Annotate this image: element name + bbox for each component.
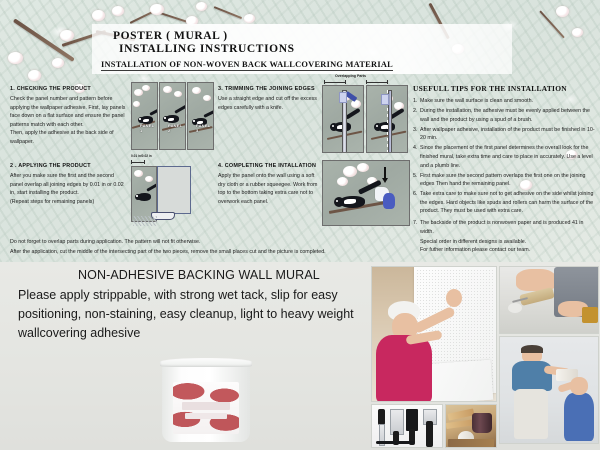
- brush-strokes: [133, 216, 157, 226]
- step-1: 1. CHECKING THE PRODUCT Check the panel …: [10, 86, 128, 146]
- photo-roller-applying-paste: [499, 266, 599, 334]
- blossom-decoration: [28, 70, 41, 81]
- tip-item: 6. Take extra care to make sure not to g…: [413, 190, 595, 216]
- page-title-line2: INSTALLING INSTRUCTIONS: [119, 43, 295, 55]
- step-4-heading: 4. COMPLETING THE INTALLATION: [218, 163, 318, 169]
- page-subtitle: INSTALLATION OF NON-WOVEN BACK WALLCOVER…: [101, 60, 393, 71]
- tip-text: First make sure the second pattern overl…: [420, 172, 595, 189]
- mural-trim-left: [322, 85, 364, 153]
- footnotes: Do not forget to overlap parts during ap…: [10, 238, 590, 257]
- tip-item: 3. After wallpaper adhesive, installatio…: [413, 126, 595, 143]
- tool-knife-icon: [376, 409, 386, 445]
- bucket-label: [173, 382, 239, 434]
- mural-panel-3: PANEL 3: [187, 82, 214, 150]
- tool-putty-knife-icon: [422, 409, 436, 447]
- tip-number: 3.: [413, 126, 420, 143]
- step-2-heading: 2 . APPLYING THE PRODUCT: [10, 163, 128, 169]
- step-1-diagram: PANEL 1 PANEL 2: [131, 82, 215, 152]
- tips-section: USEFULL TIPS FOR THE INSTALLATION 1. Mak…: [413, 84, 595, 255]
- photo-woman-hanging-wallpaper: [371, 266, 497, 402]
- step-1-heading: 1. CHECKING THE PRODUCT: [10, 86, 128, 92]
- promo-title: NON-ADHESIVE BACKING WALL MURAL: [78, 268, 320, 282]
- bird-illustration: [134, 187, 157, 207]
- mural-panel-2: PANEL 2: [159, 82, 186, 150]
- blossom-decoration: [60, 30, 74, 41]
- hand-illustration: [383, 193, 395, 209]
- blossom-decoration: [244, 14, 255, 23]
- blossom-decoration: [112, 6, 124, 16]
- tip-number: 2.: [413, 107, 420, 124]
- promo-body: Please apply strippable, with strong wet…: [18, 286, 373, 343]
- step-3-diagram: [322, 85, 412, 155]
- step-4-diagram: [322, 160, 412, 228]
- footnote-2: After the application, cut the middle of…: [10, 248, 590, 258]
- blossom-decoration: [92, 10, 105, 21]
- tip-text: Take extra care to make sure not to get …: [420, 190, 595, 216]
- tip-number: 6.: [413, 190, 420, 216]
- panel-1-label: PANEL 1: [140, 123, 157, 133]
- tip-text: Since the placement of the first panel d…: [420, 144, 595, 170]
- step-2: 2 . APPLYING THE PRODUCT After you make …: [10, 163, 128, 206]
- page-title-line1: POSTER ( MURAL ): [113, 30, 228, 42]
- blossom-decoration: [8, 52, 23, 64]
- step-3: 3. TRIMMING THE JOINING EDGES Use a stra…: [218, 86, 318, 112]
- adhesive-bucket-image: [160, 358, 252, 444]
- mural-panel-1: PANEL 1: [131, 82, 158, 150]
- tip-text: After wallpaper adhesive, installation o…: [420, 126, 595, 143]
- overlap-measure-right: [366, 80, 388, 84]
- overlapping-parts-label: Overlapping Parts: [335, 74, 366, 78]
- blossom-decoration: [52, 58, 64, 68]
- wall-surface: [157, 166, 191, 214]
- tip-number: 1.: [413, 97, 420, 106]
- tip-text: During the installation, the adhesive mu…: [420, 107, 595, 124]
- tip-number: 4.: [413, 144, 420, 170]
- step-4: 4. COMPLETING THE INTALLATION Apply the …: [218, 163, 318, 206]
- blossom-decoration: [572, 28, 583, 37]
- photo-tools-on-table: [445, 404, 497, 448]
- overlap-measure-left: [324, 80, 346, 84]
- mural-trim-right: [366, 85, 408, 153]
- knife-blade: [381, 94, 389, 105]
- dimension-label: 0.01 in/0.02 in: [131, 154, 152, 158]
- tip-item: 5. First make sure the second pattern ov…: [413, 172, 595, 189]
- dimension-measure: [131, 160, 145, 164]
- step-2-diagram: [131, 166, 215, 228]
- mural-completing: [322, 160, 410, 226]
- photo-father-and-child: [499, 336, 599, 444]
- tip-number: 5.: [413, 172, 420, 189]
- branch-decoration: [214, 6, 243, 19]
- panel-3-label: PANEL 3: [196, 123, 213, 133]
- blossom-decoration: [196, 2, 207, 11]
- step-1-body: Check the panel number and pattern befor…: [10, 95, 128, 146]
- tip-item: 1. Make sure the wall surface is clean a…: [413, 97, 595, 106]
- step-3-heading: 3. TRIMMING THE JOINING EDGES: [218, 86, 318, 92]
- tool-wide-scraper-icon: [390, 409, 402, 445]
- tip-item: 2. During the installation, the adhesive…: [413, 107, 595, 124]
- footnote-1: Do not forget to overlap parts during ap…: [10, 238, 590, 248]
- tip-text: The backside of the product is nonwoven …: [420, 219, 595, 236]
- poster-page: POSTER ( MURAL ) INSTALLING INSTRUCTIONS…: [0, 0, 600, 450]
- direction-arrow-icon: [382, 178, 388, 183]
- tips-heading: USEFULL TIPS FOR THE INSTALLATION: [413, 84, 595, 93]
- step-3-body: Use a straight edge and cut off the exce…: [218, 95, 318, 112]
- panel-2-label: PANEL 2: [168, 123, 185, 133]
- step-4-body: Apply the panel onto the wall using a so…: [218, 172, 318, 206]
- knife-blade: [339, 92, 347, 103]
- tip-item: 4. Since the placement of the first pane…: [413, 144, 595, 170]
- tip-item: 7. The backside of the product is nonwov…: [413, 219, 595, 236]
- tip-number: 7.: [413, 219, 420, 236]
- blossom-decoration: [556, 6, 569, 17]
- blossom-decoration: [150, 4, 164, 15]
- photo-scraper-tools: [371, 404, 443, 448]
- step-2-body: After you make sure the first and the se…: [10, 172, 128, 206]
- tip-text: Make sure the wall surface is clean and …: [420, 97, 595, 106]
- tool-dark-scraper-icon: [406, 409, 418, 445]
